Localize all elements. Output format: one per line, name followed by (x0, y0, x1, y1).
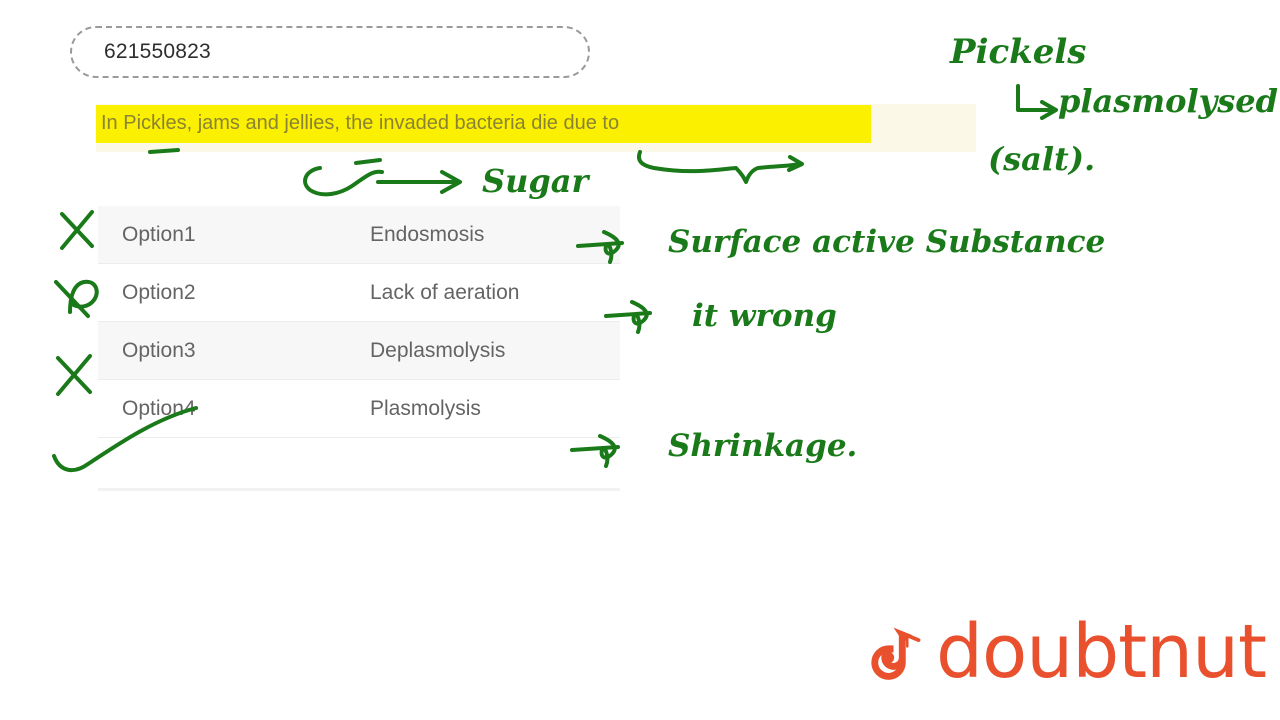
ink-corner-arrowhead-pickels (1042, 102, 1056, 118)
option-label: Option4 (98, 397, 370, 421)
annotation-it-wrong: it wrong (692, 298, 837, 334)
ink-squiggle-jams (305, 168, 382, 194)
ink-brace-under-phrase (639, 152, 800, 182)
ink-cross-option1-b (62, 212, 92, 248)
ink-arrow-head-opt2 (632, 302, 647, 332)
table-row[interactable]: Option3 Deplasmolysis (98, 322, 620, 380)
table-row[interactable]: Option1 Endosmosis (98, 206, 620, 264)
option-value: Plasmolysis (370, 397, 620, 421)
ink-cross-option1-a (62, 214, 92, 246)
table-row[interactable]: Option2 Lack of aeration (98, 264, 620, 322)
table-bottom-divider (98, 488, 620, 491)
doubtnut-mark-icon (866, 607, 926, 697)
option-label: Option1 (98, 223, 370, 247)
ink-p-mark-stroke (56, 282, 88, 316)
doubtnut-logo: doubtnut (866, 604, 1266, 700)
ink-cross-option3-b (58, 356, 90, 394)
annotation-pickels: Pickels (950, 32, 1086, 72)
ink-cross-option3-a (58, 358, 90, 392)
options-table: Option1 Endosmosis Option2 Lack of aerat… (98, 206, 620, 438)
question-id-box: 621550823 (70, 26, 590, 78)
ink-arrow-head-sugar (442, 172, 460, 192)
ink-dash-jellies (356, 160, 380, 163)
ink-arrow-shaft-opt4 (572, 447, 618, 450)
annotation-shrinkage: Shrinkage. (668, 428, 857, 464)
worksheet-page: 621550823 In Pickles, jams and jellies, … (0, 0, 1280, 720)
option-label: Option3 (98, 339, 370, 363)
annotation-surface-active: Surface active Substance (668, 224, 1105, 260)
question-text: In Pickles, jams and jellies, the invade… (101, 112, 619, 135)
doubtnut-wordmark: doubtnut (936, 615, 1266, 689)
annotation-salt: (salt). (988, 140, 1095, 178)
option-label: Option2 (98, 281, 370, 305)
question-id-text: 621550823 (104, 40, 211, 64)
annotation-plasmolysed: plasmolysed (1058, 82, 1278, 120)
ink-corner-arrow-pickels (1018, 86, 1052, 110)
table-row[interactable]: Option4 Plasmolysis (98, 380, 620, 438)
option-value: Lack of aeration (370, 281, 620, 305)
option-value: Deplasmolysis (370, 339, 620, 363)
ink-brace-arrowhead (789, 157, 802, 170)
ink-arrow-head-opt4 (600, 436, 615, 466)
option-value: Endosmosis (370, 223, 620, 247)
annotation-sugar: Sugar (482, 162, 588, 200)
ink-p-mark-loop (70, 282, 97, 312)
